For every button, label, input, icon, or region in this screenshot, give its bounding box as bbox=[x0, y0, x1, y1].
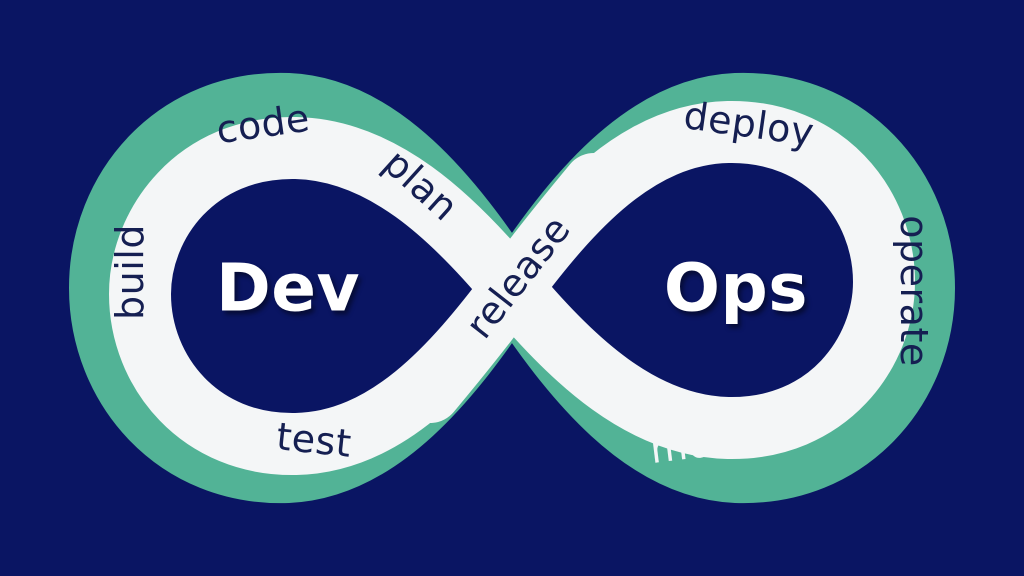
stage-label-test[interactable]: test bbox=[274, 414, 353, 466]
stage-label-operate[interactable]: operate bbox=[892, 215, 936, 366]
phase-label-ops: Ops bbox=[664, 250, 808, 327]
phase-label-dev: Dev bbox=[216, 250, 360, 327]
devops-diagram: Dev Ops code plan build test release dep… bbox=[0, 0, 1024, 576]
stage-label-build[interactable]: build bbox=[108, 224, 152, 320]
